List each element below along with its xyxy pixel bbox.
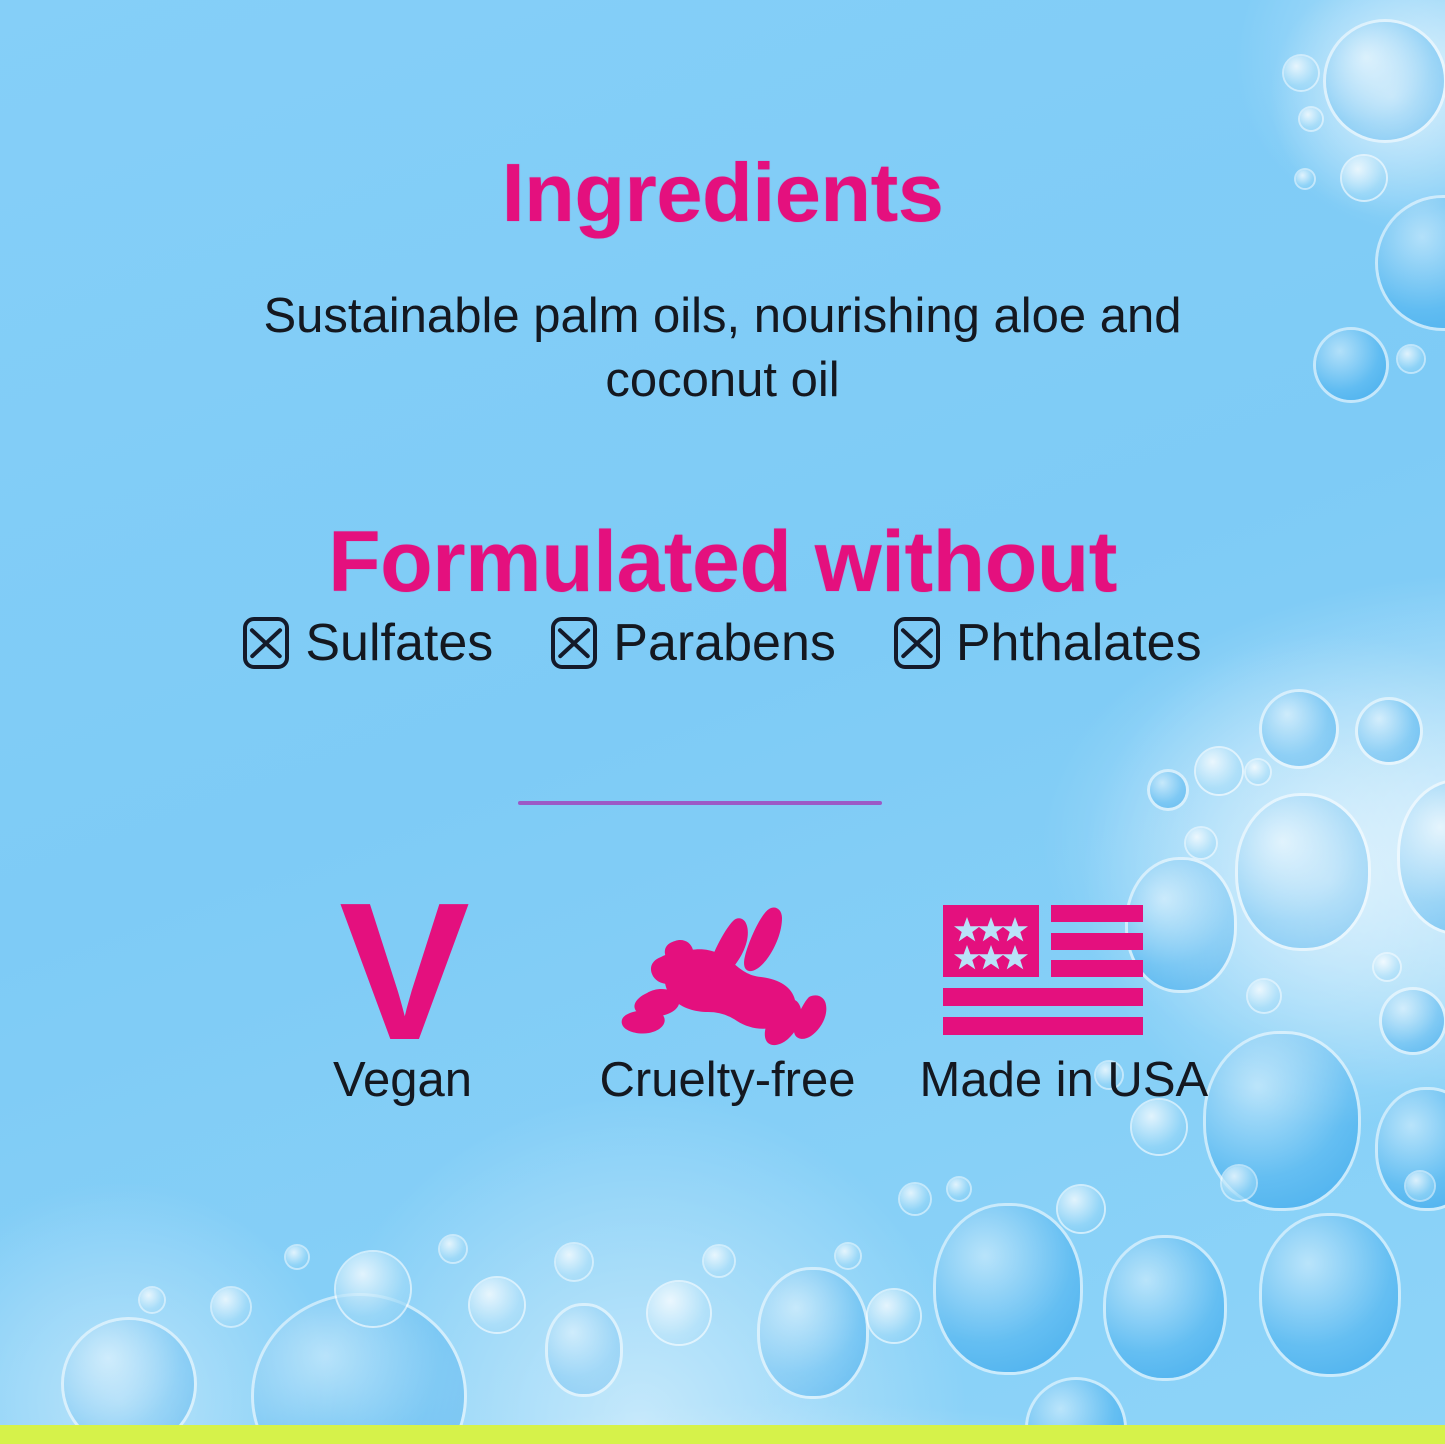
- content-layer: Ingredients Sustainable palm oils, nouri…: [0, 0, 1445, 1444]
- x-box-icon: [243, 617, 289, 669]
- ingredients-heading: Ingredients: [0, 151, 1445, 234]
- free-from-item-sulfates: Sulfates: [243, 617, 493, 669]
- section-divider: [518, 801, 882, 805]
- free-from-label: Phthalates: [956, 617, 1202, 669]
- certification-badges: V Vegan: [0, 896, 1445, 1105]
- formulated-without-heading: Formulated without: [0, 519, 1445, 605]
- formulated-without-list: Sulfates Parabens Phthalates: [0, 617, 1445, 669]
- badge-label: Cruelty-free: [600, 1056, 846, 1105]
- rabbit-icon: [600, 896, 846, 1048]
- ingredients-description: Sustainable palm oils, nourishing aloe a…: [243, 285, 1203, 412]
- free-from-item-phthalates: Phthalates: [894, 617, 1202, 669]
- badge-label: Vegan: [280, 1056, 526, 1105]
- x-box-icon: [894, 617, 940, 669]
- free-from-label: Parabens: [613, 617, 836, 669]
- x-box-icon: [551, 617, 597, 669]
- badge-label: Made in USA: [920, 1056, 1166, 1105]
- vegan-v-icon: V: [280, 896, 526, 1048]
- badge-made-in-usa: Made in USA: [920, 896, 1166, 1105]
- vegan-v-glyph: V: [339, 896, 466, 1049]
- badge-cruelty-free: Cruelty-free: [600, 896, 846, 1105]
- usa-flag-icon: [920, 896, 1166, 1048]
- free-from-label: Sulfates: [305, 617, 493, 669]
- free-from-item-parabens: Parabens: [551, 617, 836, 669]
- bottom-lime-strip: [0, 1425, 1445, 1444]
- product-infographic: Ingredients Sustainable palm oils, nouri…: [0, 0, 1445, 1444]
- badge-vegan: V Vegan: [280, 896, 526, 1105]
